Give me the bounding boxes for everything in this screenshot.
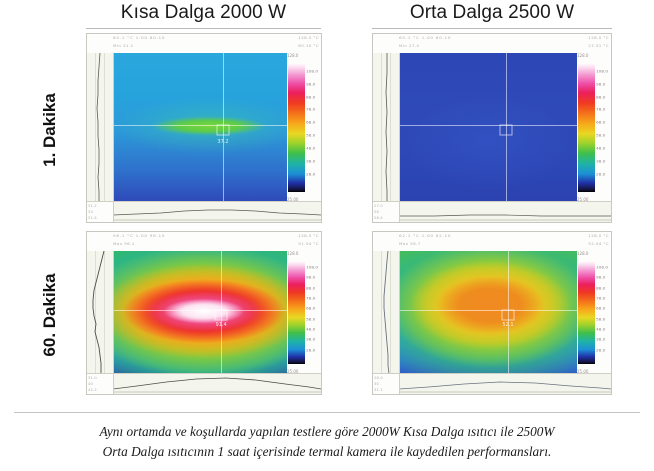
horizontal-profile-plot [399, 373, 611, 394]
telemetry-header-right-2: 27.01 °C [588, 43, 609, 47]
telemetry-header-left-2: Max 96.1 [113, 241, 135, 245]
thermal-heatmap-field [400, 53, 577, 202]
scale-tick: 78.0 [306, 296, 315, 301]
panel-telemetry-bar: 62.1 °C 1.00 62.10 Max 56.7 128.0 °C 52.… [373, 232, 611, 252]
thermal-panel-kisa-dalga-1-dakika[interactable]: 80.1 °C 1.00 80.10 Min 31.2 128.0 °C 80.… [86, 33, 322, 223]
scale-tick: 78.0 [596, 296, 605, 301]
corner-value-1: 27.0 [374, 204, 383, 207]
scale-tick: 38.0 [596, 337, 605, 342]
scale-max-label: 128.0 [577, 251, 588, 256]
scale-tick: 68.0 [596, 306, 605, 311]
vertical-profile-plot [373, 53, 400, 202]
panel-telemetry-bar: 60.1 °C 1.00 60.10 Min 27.0 128.0 °C 27.… [373, 34, 611, 54]
spot-measure-box [500, 125, 513, 136]
corner-readout: 31.2 34 31.4 [87, 201, 114, 222]
scale-tick: 88.0 [596, 94, 605, 99]
thermal-panel-kisa-dalga-60-dakika[interactable]: 96.1 °C 1.00 96.10 Max 96.1 128.0 °C 91.… [86, 231, 322, 395]
color-gradient [578, 261, 595, 364]
thermal-image: 37.2 [114, 53, 287, 202]
scale-max-label: 128.0 [287, 53, 298, 58]
scale-tick: 108.0 [306, 265, 318, 270]
scale-tick: 108.0 [596, 265, 608, 270]
row-label-60-dakika: 60. Dakika [40, 230, 60, 400]
scale-tick: 98.0 [596, 81, 605, 86]
vertical-profile-trace [373, 251, 399, 374]
telemetry-header-left-1: 62.1 °C 1.00 62.10 [399, 233, 451, 237]
telemetry-header-right-1: 128.0 °C [298, 233, 319, 237]
thermal-panel-orta-dalga-1-dakika[interactable]: 60.1 °C 1.00 60.10 Min 27.0 128.0 °C 27.… [372, 33, 612, 223]
spot-temperature-label: 91.4 [216, 322, 227, 328]
corner-readout: 31.0 40 42.2 [87, 373, 114, 394]
horizontal-profile-trace [399, 374, 611, 394]
vertical-profile-plot [87, 251, 114, 374]
scale-tick: 38.0 [306, 159, 315, 164]
thermal-panel-orta-dalga-60-dakika[interactable]: 62.1 °C 1.00 62.10 Max 56.7 128.0 °C 52.… [372, 231, 612, 395]
telemetry-header-right-2: 91.04 °C [298, 241, 319, 245]
scale-tick: 88.0 [306, 286, 315, 291]
spot-measure-box [216, 125, 229, 136]
color-gradient [288, 261, 305, 364]
corner-value-3: 31.1 [374, 388, 383, 391]
scale-tick: 98.0 [306, 275, 315, 280]
scale-tick: 98.0 [596, 275, 605, 280]
column-header-kisa-dalga: Kısa Dalga 2000 W [86, 2, 321, 26]
scale-tick: 98.0 [306, 81, 315, 86]
telemetry-header-right-1: 128.0 °C [588, 233, 609, 237]
corner-value-3: 28.4 [374, 216, 383, 219]
horizontal-profile-plot [399, 201, 611, 222]
horizontal-profile-trace [113, 202, 321, 222]
caption-line-1: Aynı ortamda ve koşullarda yapılan testl… [14, 424, 640, 440]
corner-value-1: 31.2 [88, 204, 97, 207]
scale-ticks: 108.0 98.0 88.0 78.0 68.0 58.0 48.0 38.0… [306, 63, 321, 192]
scale-tick: 68.0 [306, 306, 315, 311]
corner-value-1: 31.0 [88, 376, 97, 379]
horizontal-profile-trace [399, 202, 611, 222]
scale-tick: 48.0 [596, 146, 605, 151]
scale-tick: 28.0 [306, 172, 315, 177]
color-gradient [288, 63, 305, 192]
spot-measure-box [215, 309, 228, 320]
telemetry-header-right-2: 52.04 °C [588, 241, 609, 245]
row-label-1-dakika: 1. Dakika [40, 45, 60, 215]
vertical-profile-trace [87, 251, 113, 374]
telemetry-header-left-2: Max 56.7 [399, 241, 421, 245]
scale-tick: 48.0 [306, 327, 315, 332]
vertical-profile-plot [373, 251, 400, 374]
scale-tick: 58.0 [306, 316, 315, 321]
thermal-heatmap-field [114, 251, 287, 374]
vertical-profile-plot [87, 53, 114, 202]
vertical-profile-trace [87, 53, 113, 202]
scale-ticks: 108.0 98.0 88.0 78.0 68.0 58.0 48.0 38.0… [596, 63, 611, 192]
telemetry-header-right-1: 128.0 °C [298, 35, 319, 39]
scale-tick: 28.0 [306, 347, 315, 352]
scale-tick: 48.0 [306, 146, 315, 151]
telemetry-header-left-1: 80.1 °C 1.00 80.10 [113, 35, 165, 39]
color-scale-bar: 128.0 108.0 98.0 88.0 78.0 68.0 58.0 48.… [577, 53, 611, 202]
telemetry-header-right-1: 128.0 °C [588, 35, 609, 39]
corner-value-3: 31.4 [88, 216, 97, 219]
thermal-image [400, 53, 577, 202]
scale-tick: 28.0 [596, 347, 605, 352]
thermal-image: 91.4 [114, 251, 287, 374]
telemetry-header-right-2: 80.10 °C [298, 43, 319, 47]
scale-tick: 108.0 [596, 68, 608, 73]
scale-tick: 78.0 [306, 107, 315, 112]
telemetry-header-left-1: 96.1 °C 1.00 96.10 [113, 233, 165, 237]
corner-value-2: 28 [374, 210, 379, 213]
color-gradient [578, 63, 595, 192]
scale-tick: 58.0 [306, 133, 315, 138]
telemetry-header-left-2: Min 27.0 [399, 43, 419, 47]
crosshair-horizontal [114, 125, 287, 126]
scale-tick: 108.0 [306, 68, 318, 73]
scale-tick: 58.0 [596, 316, 605, 321]
crosshair-horizontal [400, 125, 577, 126]
thermal-image: 52.1 [400, 251, 577, 374]
telemetry-header-left-1: 60.1 °C 1.00 60.10 [399, 35, 451, 39]
scale-tick: 58.0 [596, 133, 605, 138]
color-scale-bar: 128.0 108.0 98.0 88.0 78.0 68.0 58.0 48.… [287, 251, 321, 374]
scale-tick: 88.0 [596, 286, 605, 291]
spot-measure-box [501, 309, 514, 320]
caption-line-2: Orta Dalga ısıtıcının 1 saat içerisinde … [14, 444, 640, 460]
scale-tick: 48.0 [596, 327, 605, 332]
horizontal-profile-plot [113, 201, 321, 222]
color-scale-bar: 128.0 108.0 98.0 88.0 78.0 68.0 58.0 48.… [287, 53, 321, 202]
vertical-profile-trace [373, 53, 399, 202]
scale-tick: 78.0 [596, 107, 605, 112]
caption-divider [14, 412, 640, 413]
column-header-rule-right [372, 28, 612, 29]
column-header-rule-left [86, 28, 321, 29]
panel-telemetry-bar: 96.1 °C 1.00 96.10 Max 96.1 128.0 °C 91.… [87, 232, 321, 252]
scale-max-label: 128.0 [287, 251, 298, 256]
horizontal-profile-trace [113, 374, 321, 394]
thermal-heatmap-field [400, 251, 577, 374]
crosshair-horizontal [400, 310, 577, 311]
telemetry-header-left-2: Min 31.2 [113, 43, 133, 47]
corner-readout: 27.0 28 28.4 [373, 201, 400, 222]
scale-tick: 68.0 [306, 120, 315, 125]
crosshair-horizontal [114, 310, 287, 311]
scale-tick: 88.0 [306, 94, 315, 99]
corner-readout: 28.0 30 31.1 [373, 373, 400, 394]
scale-ticks: 108.0 98.0 88.0 78.0 68.0 58.0 48.0 38.0… [306, 261, 321, 364]
panel-telemetry-bar: 80.1 °C 1.00 80.10 Min 31.2 128.0 °C 80.… [87, 34, 321, 54]
scale-ticks: 108.0 98.0 88.0 78.0 68.0 58.0 48.0 38.0… [596, 261, 611, 364]
thermal-heatmap-field [114, 53, 287, 202]
horizontal-profile-plot [113, 373, 321, 394]
scale-tick: 38.0 [596, 159, 605, 164]
corner-value-2: 40 [88, 382, 93, 385]
scale-tick: 28.0 [596, 172, 605, 177]
scale-tick: 68.0 [596, 120, 605, 125]
color-scale-bar: 128.0 108.0 98.0 88.0 78.0 68.0 58.0 48.… [577, 251, 611, 374]
corner-value-3: 42.2 [88, 388, 97, 391]
scale-tick: 38.0 [306, 337, 315, 342]
corner-value-2: 30 [374, 382, 379, 385]
spot-temperature-label: 52.1 [502, 322, 513, 328]
scale-max-label: 128.0 [577, 53, 588, 58]
spot-temperature-label: 37.2 [217, 139, 228, 145]
corner-value-1: 28.0 [374, 376, 383, 379]
corner-value-2: 34 [88, 210, 93, 213]
column-header-orta-dalga: Orta Dalga 2500 W [372, 2, 612, 26]
